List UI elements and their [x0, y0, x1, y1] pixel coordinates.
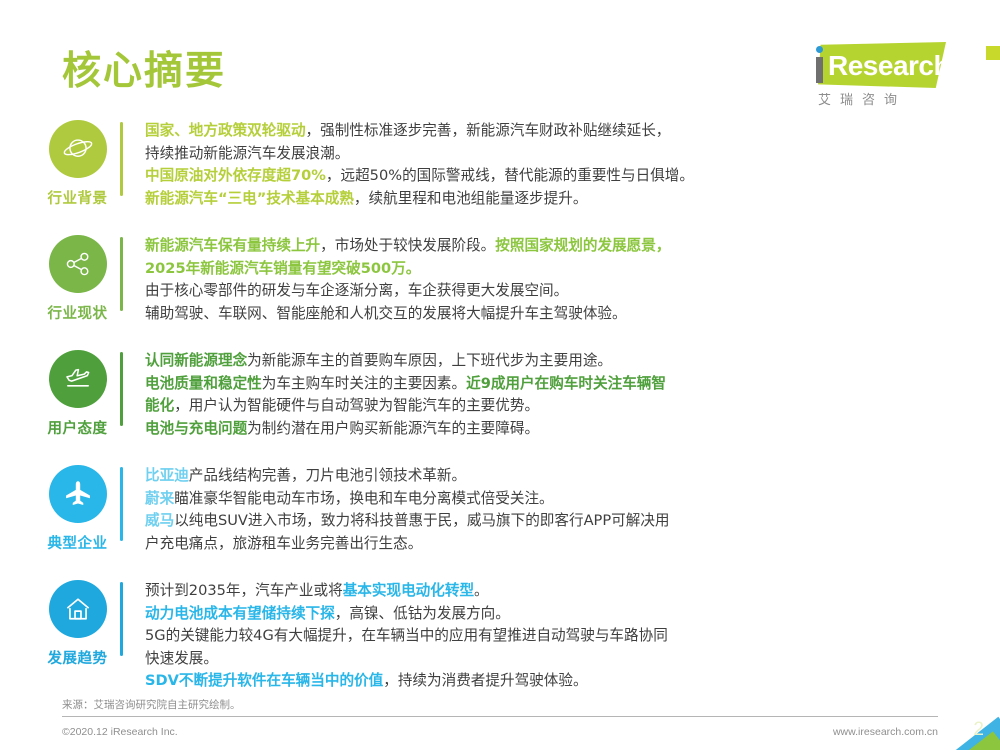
section-text-line: 由于核心零部件的研发与车企逐渐分离，车企获得更大发展空间。 — [145, 280, 960, 303]
corner-decoration — [916, 676, 1000, 750]
highlighted-text: 按照国家规划的发展愿景， — [495, 237, 670, 254]
highlighted-text: 蔚来 — [145, 490, 174, 507]
logo-wordmark: Research — [828, 50, 950, 82]
section-text-line: 认同新能源理念为新能源车主的首要购车原因，上下班代步为主要用途。 — [145, 350, 960, 373]
airplane-icon — [49, 465, 107, 523]
slide-root: 核心摘要 Research 艾瑞咨询 行业背景 国家、地方政策双轮驱动，强制性标… — [0, 0, 1000, 750]
page-title: 核心摘要 — [62, 52, 226, 91]
body-text: ，强制性标准逐步完善，新能源汽车财政补贴继续延长， — [306, 122, 671, 139]
highlighted-text: 电池质量和稳定性 — [145, 375, 262, 392]
section-text-line: 国家、地方政策双轮驱动，强制性标准逐步完善，新能源汽车财政补贴继续延长， — [145, 120, 960, 143]
section-text-line: 威马以纯电SUV进入市场，致力将科技普惠于民，威马旗下的即客行APP可解决用 — [145, 510, 960, 533]
section-label-typical-companies: 典型企业 — [48, 532, 108, 553]
section-text-line: 户充电痛点，旅游租车业务完善出行生态。 — [145, 533, 960, 556]
body-text: 为车主购车时关注的主要因素。 — [262, 375, 466, 392]
summary-sections: 行业背景 国家、地方政策双轮驱动，强制性标准逐步完善，新能源汽车财政补贴继续延长… — [0, 118, 1000, 693]
section-text-user-attitude: 认同新能源理念为新能源车主的首要购车原因，上下班代步为主要用途。电池质量和稳定性… — [145, 348, 1000, 440]
section-label-industry-status: 行业现状 — [48, 302, 108, 323]
section-icon-column: 行业背景 — [0, 118, 120, 208]
section-text-line: 持续推动新能源汽车发展浪潮。 — [145, 143, 960, 166]
body-text: 5G的关键能力较4G有大幅提升，在车辆当中的应用有望推进自动驾驶与车路协同 — [145, 627, 668, 644]
highlighted-text: 中国原油对外依存度超70% — [145, 167, 326, 184]
top-right-accent-mark — [986, 46, 1000, 60]
section-divider — [120, 237, 123, 311]
body-text: 持续推动新能源汽车发展浪潮。 — [145, 145, 349, 162]
highlighted-text: 2025年新能源汽车销量有望突破500万。 — [145, 260, 420, 277]
section-text-line: 蔚来瞄准豪华智能电动车市场，换电和车电分离模式倍受关注。 — [145, 488, 960, 511]
section-row-typical-companies: 典型企业 比亚迪产品线结构完善，刀片电池引领技术革新。蔚来瞄准豪华智能电动车市场… — [0, 463, 1000, 578]
section-divider — [120, 467, 123, 541]
home-icon — [49, 580, 107, 638]
body-text: 辅助驾驶、车联网、智能座舱和人机交互的发展将大幅提升车主驾驶体验。 — [145, 305, 627, 322]
body-text: 由于核心零部件的研发与车企逐渐分离，车企获得更大发展空间。 — [145, 282, 568, 299]
copyright-text: ©2020.12 iResearch Inc. — [62, 726, 178, 738]
section-row-industry-background: 行业背景 国家、地方政策双轮驱动，强制性标准逐步完善，新能源汽车财政补贴继续延长… — [0, 118, 1000, 233]
section-divider — [120, 352, 123, 426]
section-text-typical-companies: 比亚迪产品线结构完善，刀片电池引领技术革新。蔚来瞄准豪华智能电动车市场，换电和车… — [145, 463, 1000, 555]
section-row-development-trend: 发展趋势 预计到2035年，汽车产业或将基本实现电动化转型。动力电池成本有望储持… — [0, 578, 1000, 693]
section-row-industry-status: 行业现状 新能源汽车保有量持续上升，市场处于较快发展阶段。按照国家规划的发展愿景… — [0, 233, 1000, 348]
body-text: ，持续为消费者提升驾驶体验。 — [383, 672, 587, 689]
body-text: 产品线结构完善，刀片电池引领技术革新。 — [189, 467, 466, 484]
logo-i-dot — [816, 46, 823, 53]
body-text: 为新能源车主的首要购车原因，上下班代步为主要用途。 — [247, 352, 612, 369]
section-text-line: 电池与充电问题为制约潜在用户购买新能源汽车的主要障碍。 — [145, 418, 960, 441]
section-text-line: 动力电池成本有望储持续下探，高镍、低钴为发展方向。 — [145, 603, 960, 626]
body-text: 预计到2035年，汽车产业或将 — [145, 582, 343, 599]
logo-i-stem — [816, 57, 823, 83]
highlighted-text: 动力电池成本有望储持续下探 — [145, 605, 335, 622]
logo-subtitle-cn: 艾瑞咨询 — [818, 89, 906, 108]
body-text: 户充电痛点，旅游租车业务完善出行生态。 — [145, 535, 422, 552]
section-icon-column: 行业现状 — [0, 233, 120, 323]
section-text-line: 快速发展。 — [145, 648, 960, 671]
section-text-line: 2025年新能源汽车销量有望突破500万。 — [145, 258, 960, 281]
page-number: 2 — [973, 719, 984, 741]
iresearch-logo: Research 艾瑞咨询 — [792, 42, 962, 104]
highlighted-text: 威马 — [145, 512, 174, 529]
body-text: 为制约潜在用户购买新能源汽车的主要障碍。 — [247, 420, 539, 437]
section-text-line: 电池质量和稳定性为车主购车时关注的主要因素。近9成用户在购车时关注车辆智 — [145, 373, 960, 396]
highlighted-text: 新能源汽车“三电”技术基本成熟 — [145, 190, 354, 207]
section-label-user-attitude: 用户态度 — [48, 417, 108, 438]
highlighted-text: 近9成用户在购车时关注车辆智 — [466, 375, 666, 392]
section-text-line: 5G的关键能力较4G有大幅提升，在车辆当中的应用有望推进自动驾驶与车路协同 — [145, 625, 960, 648]
section-icon-column: 用户态度 — [0, 348, 120, 438]
highlighted-text: 基本实现电动化转型 — [343, 582, 474, 599]
body-text: 以纯电SUV进入市场，致力将科技普惠于民，威马旗下的即客行APP可解决用 — [174, 512, 669, 529]
section-text-line: 中国原油对外依存度超70%，远超50%的国际警戒线，替代能源的重要性与日俱增。 — [145, 165, 960, 188]
section-text-line: 比亚迪产品线结构完善，刀片电池引领技术革新。 — [145, 465, 960, 488]
section-icon-column: 典型企业 — [0, 463, 120, 553]
highlighted-text: SDV不断提升软件在车辆当中的价值 — [145, 672, 383, 689]
body-text: ，高镍、低钴为发展方向。 — [335, 605, 510, 622]
section-label-industry-background: 行业背景 — [48, 187, 108, 208]
highlighted-text: 比亚迪 — [145, 467, 189, 484]
body-text: ，市场处于较快发展阶段。 — [320, 237, 495, 254]
body-text: ，远超50%的国际警戒线，替代能源的重要性与日俱增。 — [326, 167, 694, 184]
section-divider — [120, 122, 123, 196]
source-note: 来源：艾瑞咨询研究院自主研究绘制。 — [62, 697, 241, 712]
body-text: 。 — [474, 582, 489, 599]
section-text-line: SDV不断提升软件在车辆当中的价值，持续为消费者提升驾驶体验。 — [145, 670, 960, 693]
section-text-line: 新能源汽车“三电”技术基本成熟，续航里程和电池组能量逐步提升。 — [145, 188, 960, 211]
section-text-industry-background: 国家、地方政策双轮驱动，强制性标准逐步完善，新能源汽车财政补贴继续延长，持续推动… — [145, 118, 1000, 210]
body-text: ，用户认为智能硬件与自动驾驶为智能汽车的主要优势。 — [174, 397, 539, 414]
highlighted-text: 电池与充电问题 — [145, 420, 247, 437]
body-text: 瞄准豪华智能电动车市场，换电和车电分离模式倍受关注。 — [174, 490, 553, 507]
section-icon-column: 发展趋势 — [0, 578, 120, 668]
section-divider — [120, 582, 123, 656]
footer-divider — [62, 716, 938, 717]
section-label-development-trend: 发展趋势 — [48, 647, 108, 668]
highlighted-text: 新能源汽车保有量持续上升 — [145, 237, 320, 254]
airplane-takeoff-icon — [49, 350, 107, 408]
section-text-line: 预计到2035年，汽车产业或将基本实现电动化转型。 — [145, 580, 960, 603]
section-text-development-trend: 预计到2035年，汽车产业或将基本实现电动化转型。动力电池成本有望储持续下探，高… — [145, 578, 1000, 693]
highlighted-text: 国家、地方政策双轮驱动 — [145, 122, 306, 139]
section-text-line: 新能源汽车保有量持续上升，市场处于较快发展阶段。按照国家规划的发展愿景， — [145, 235, 960, 258]
highlighted-text: 认同新能源理念 — [145, 352, 247, 369]
section-text-line: 辅助驾驶、车联网、智能座舱和人机交互的发展将大幅提升车主驾驶体验。 — [145, 303, 960, 326]
section-text-line: 能化，用户认为智能硬件与自动驾驶为智能汽车的主要优势。 — [145, 395, 960, 418]
highlighted-text: 能化 — [145, 397, 174, 414]
section-row-user-attitude: 用户态度 认同新能源理念为新能源车主的首要购车原因，上下班代步为主要用途。电池质… — [0, 348, 1000, 463]
section-text-industry-status: 新能源汽车保有量持续上升，市场处于较快发展阶段。按照国家规划的发展愿景，2025… — [145, 233, 1000, 325]
planet-icon — [49, 120, 107, 178]
share-network-icon — [49, 235, 107, 293]
body-text: ，续航里程和电池组能量逐步提升。 — [354, 190, 588, 207]
body-text: 快速发展。 — [145, 650, 218, 667]
